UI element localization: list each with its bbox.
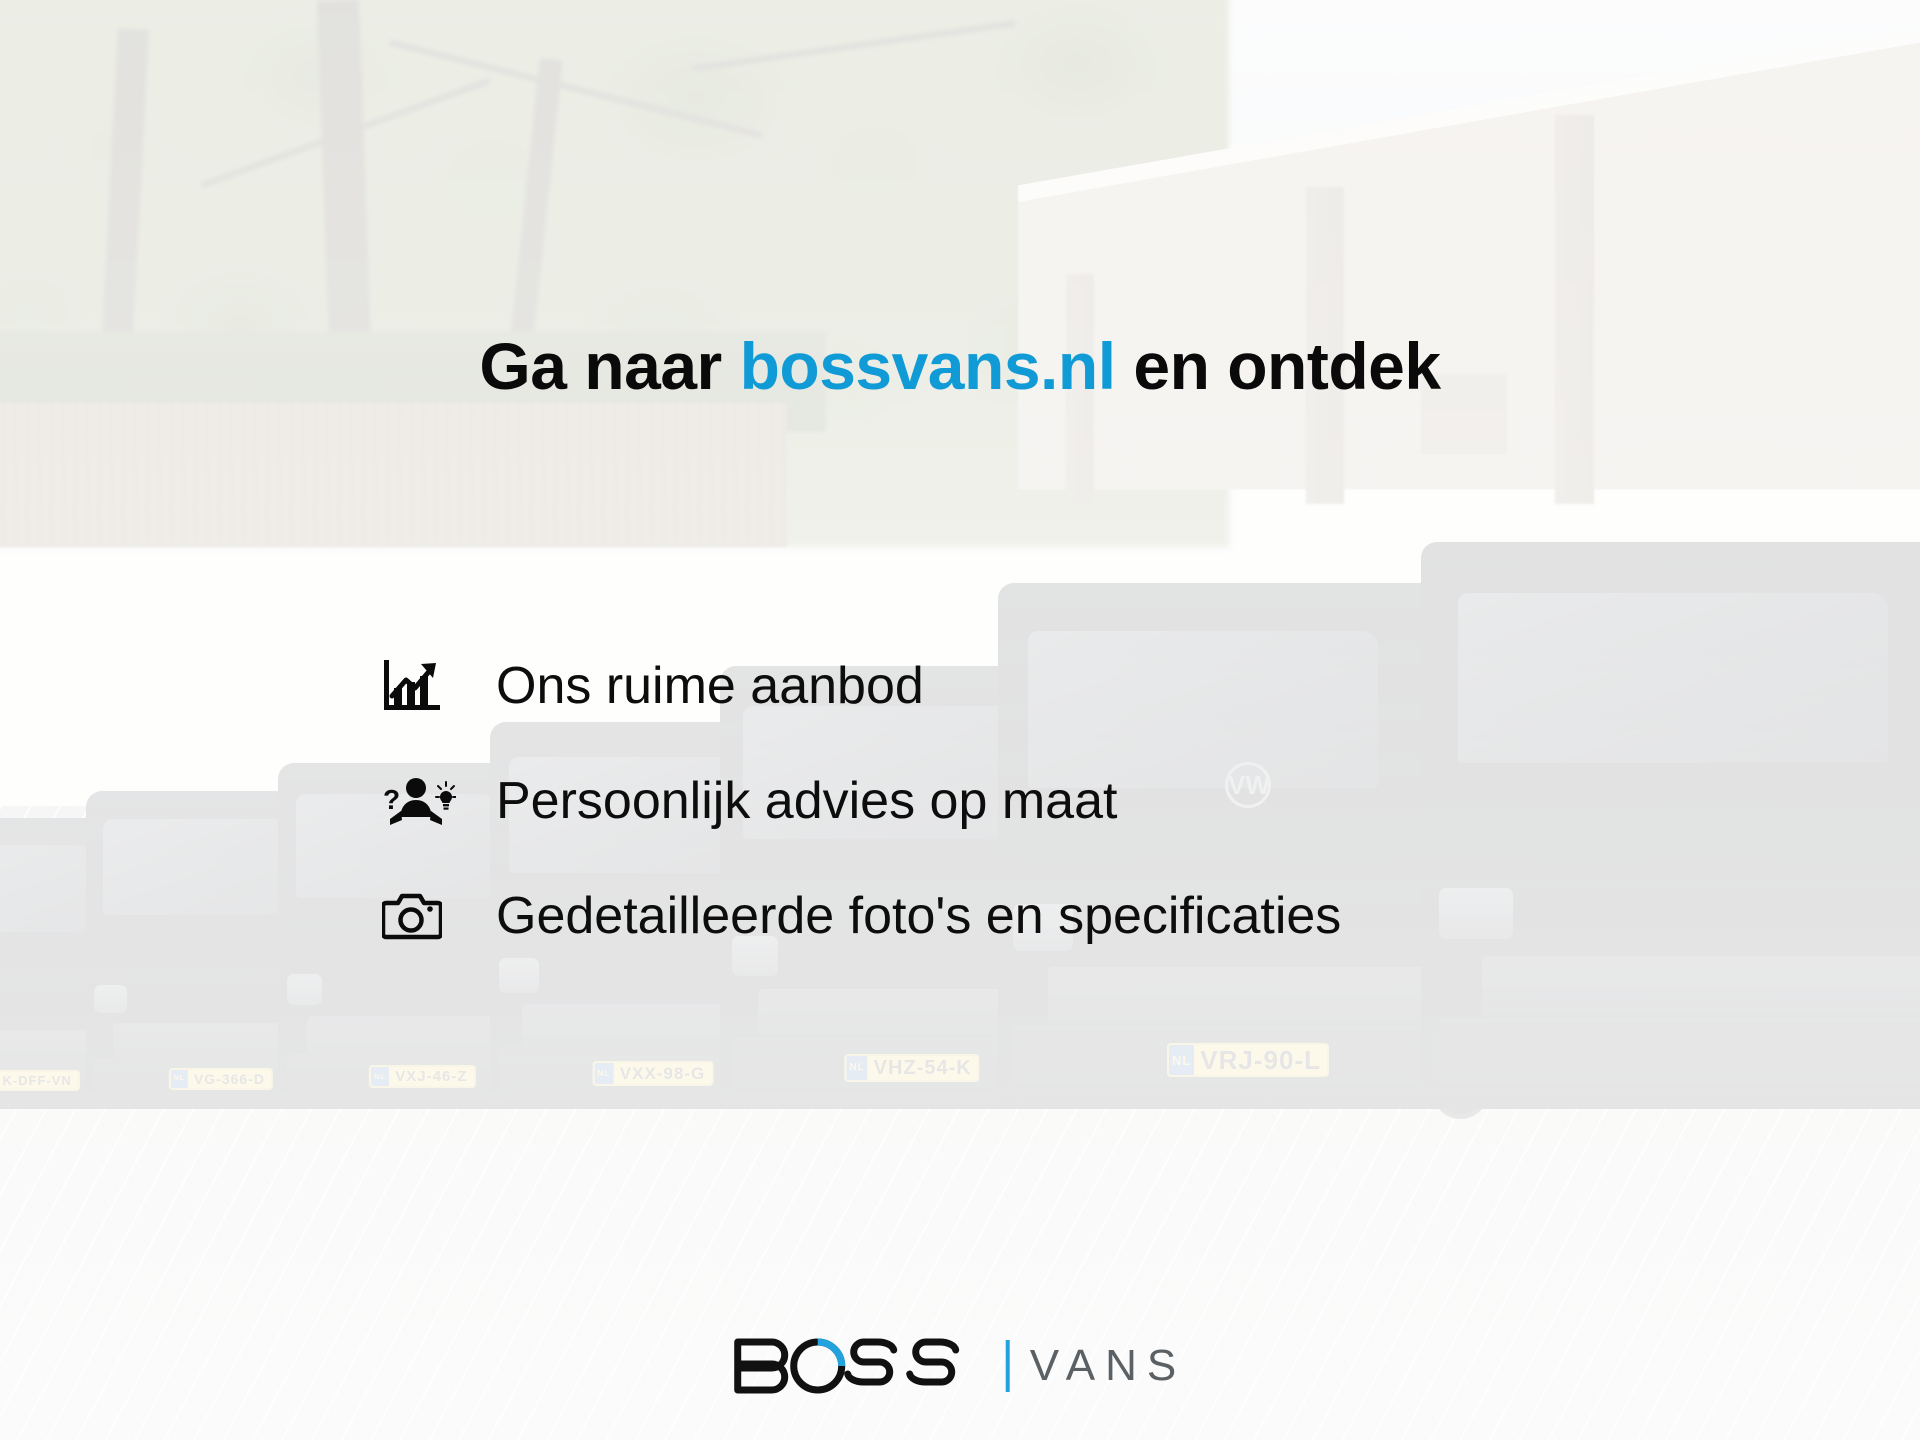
slide-content: Ga naar bossvans.nl en ontdek Ons ruime bbox=[0, 0, 1920, 1440]
list-item: ? bbox=[382, 743, 1582, 858]
list-item-label: Gedetailleerde foto's en specificaties bbox=[496, 890, 1341, 942]
chart-increasing-icon bbox=[382, 655, 456, 717]
list-item: Ons ruime aanbod bbox=[382, 628, 1582, 743]
person-advice-icon: ? bbox=[382, 770, 456, 832]
logo-sub-label: VANS bbox=[1030, 1341, 1187, 1391]
headline-after: en ontdek bbox=[1116, 329, 1441, 403]
headline-accent-url: bossvans.nl bbox=[740, 329, 1116, 403]
list-item-label: Ons ruime aanbod bbox=[496, 660, 924, 712]
camera-icon bbox=[382, 885, 456, 947]
page-title: Ga naar bossvans.nl en ontdek bbox=[0, 330, 1920, 403]
list-item: Gedetailleerde foto's en specificaties bbox=[382, 858, 1582, 973]
list-item-label: Persoonlijk advies op maat bbox=[496, 775, 1117, 827]
boss-wordmark bbox=[734, 1336, 986, 1396]
svg-text:?: ? bbox=[383, 784, 400, 815]
brand-logo: VANS bbox=[734, 1336, 1187, 1396]
feature-list: Ons ruime aanbod ? bbox=[382, 628, 1582, 973]
logo-divider bbox=[1006, 1340, 1010, 1392]
presentation-slide: NL K-DFF-VN NL VG-366-D bbox=[0, 0, 1920, 1440]
headline-before: Ga naar bbox=[479, 329, 739, 403]
